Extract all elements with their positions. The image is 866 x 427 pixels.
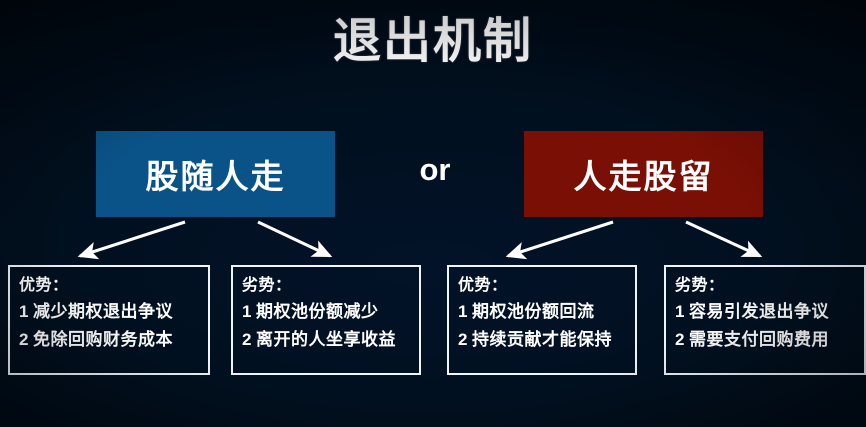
item-text: 持续贡献才能保持	[472, 330, 612, 349]
detail-box-heading: 优势：	[458, 274, 635, 298]
detail-box-heading: 优势：	[19, 274, 208, 298]
detail-box-advantages-left: 优势： 1减少期权退出争议 2免除回购财务成本	[8, 265, 210, 375]
arrow-blue-to-box1	[80, 222, 185, 256]
or-connector-label: or	[390, 152, 480, 188]
detail-box-disadvantages-left: 劣势： 1期权池份额减少 2离开的人坐享收益	[231, 265, 421, 375]
detail-box-disadvantages-right: 劣势： 1容易引发退出争议 2需要支付回购费用	[664, 265, 866, 375]
item-text: 减少期权退出争议	[33, 302, 173, 321]
detail-box-item: 2离开的人坐享收益	[242, 326, 419, 354]
item-text: 免除回购财务成本	[33, 330, 173, 349]
detail-box-item: 1期权池份额减少	[242, 298, 419, 326]
detail-box-item: 2免除回购财务成本	[19, 326, 208, 354]
detail-box-item: 1期权池份额回流	[458, 298, 635, 326]
slide-canvas: 退出机制 股随人走 or 人走股留 优势： 1减少期权退出争议 2免除回购财务成…	[0, 0, 866, 427]
detail-box-item: 1减少期权退出争议	[19, 298, 208, 326]
item-number: 2	[675, 326, 689, 354]
item-text: 需要支付回购费用	[689, 330, 829, 349]
item-text: 期权池份额减少	[256, 302, 379, 321]
arrow-red-to-box3	[508, 222, 613, 256]
page-title: 退出机制	[0, 14, 866, 71]
detail-box-heading: 劣势：	[675, 274, 864, 298]
item-number: 1	[675, 298, 689, 326]
detail-box-item: 2需要支付回购费用	[675, 326, 864, 354]
item-text: 期权池份额回流	[472, 302, 595, 321]
item-number: 2	[242, 326, 256, 354]
option-card-right[interactable]: 人走股留	[524, 131, 763, 217]
item-number: 2	[458, 326, 472, 354]
option-card-left[interactable]: 股随人走	[96, 131, 335, 217]
arrow-red-to-box4	[686, 222, 760, 256]
item-number: 1	[242, 298, 256, 326]
item-number: 1	[19, 298, 33, 326]
detail-box-item: 1容易引发退出争议	[675, 298, 864, 326]
option-card-right-label: 人走股留	[574, 150, 714, 198]
option-card-left-label: 股随人走	[146, 150, 286, 198]
detail-box-heading: 劣势：	[242, 274, 419, 298]
item-text: 离开的人坐享收益	[256, 330, 396, 349]
item-number: 1	[458, 298, 472, 326]
item-number: 2	[19, 326, 33, 354]
detail-box-item: 2持续贡献才能保持	[458, 326, 635, 354]
detail-box-advantages-right: 优势： 1期权池份额回流 2持续贡献才能保持	[447, 265, 637, 375]
arrow-blue-to-box2	[258, 222, 330, 256]
item-text: 容易引发退出争议	[689, 302, 829, 321]
